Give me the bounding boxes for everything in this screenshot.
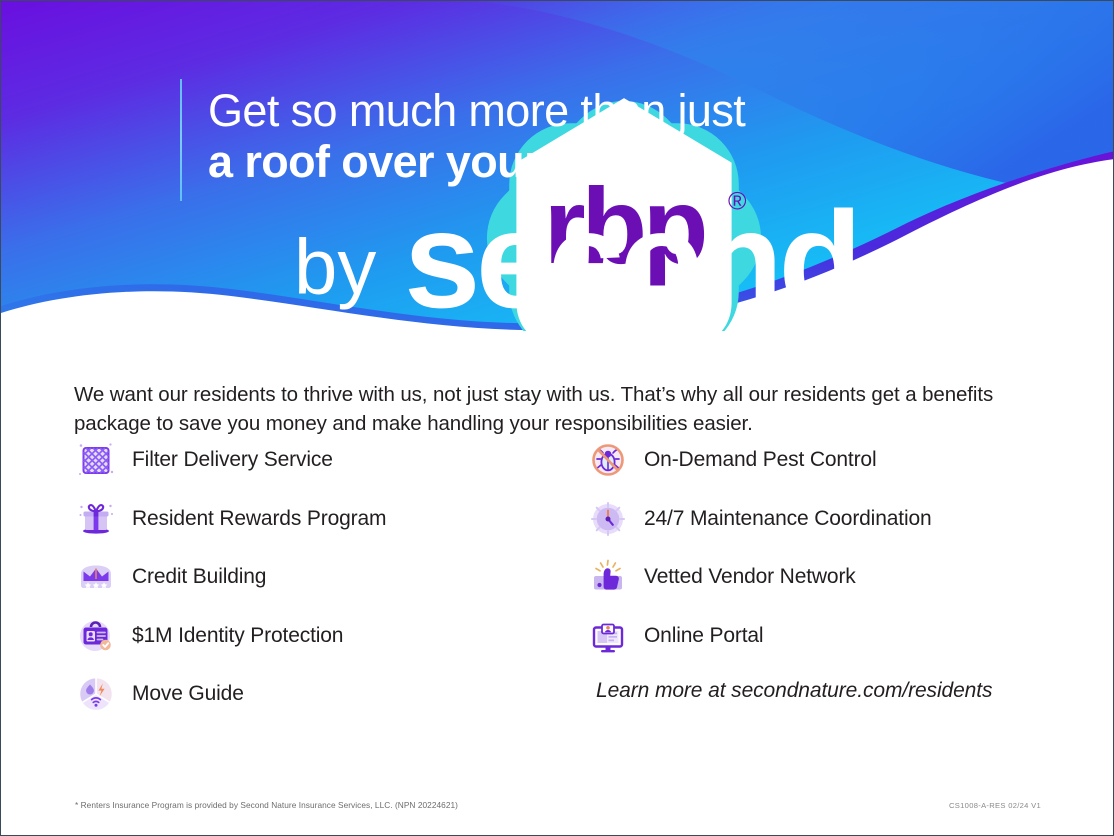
marketing-flyer: rbp ® by second nature ® Get so much mor…: [0, 0, 1114, 836]
benefit-filter-delivery-service[interactable]: Filter Delivery Service: [74, 431, 574, 490]
benefit-resident-rewards-program[interactable]: Resident Rewards Program: [74, 490, 574, 549]
footer-disclaimer: * Renters Insurance Program is provided …: [75, 800, 458, 810]
benefit-label: Move Guide: [132, 682, 244, 706]
benefit-identity-protection[interactable]: $1M Identity Protection: [74, 607, 574, 666]
thumbs-up-icon: [586, 555, 630, 599]
benefits-column-left: Filter Delivery Service: [74, 431, 574, 724]
benefit-credit-building[interactable]: Credit Building: [74, 548, 574, 607]
id-badge-shield-icon: [74, 614, 118, 658]
benefit-on-demand-pest-control[interactable]: On-Demand Pest Control: [586, 431, 1064, 490]
benefit-label: Credit Building: [132, 565, 266, 589]
filter-icon: [74, 438, 118, 482]
monitor-icon: [586, 614, 630, 658]
benefit-move-guide[interactable]: Move Guide: [74, 665, 574, 724]
hero-banner: rbp ® by second nature ® Get so much mor…: [1, 1, 1114, 331]
gift-icon: [74, 497, 118, 541]
benefit-label: 24/7 Maintenance Coordination: [644, 507, 932, 531]
benefit-vetted-vendor-network[interactable]: Vetted Vendor Network: [586, 548, 1064, 607]
benefit-label: Online Portal: [644, 624, 763, 648]
benefit-label: On-Demand Pest Control: [644, 448, 876, 472]
utilities-circle-icon: [74, 672, 118, 716]
benefits-column-right: On-Demand Pest Control: [586, 431, 1064, 665]
benefit-label: $1M Identity Protection: [132, 624, 343, 648]
crown-stars-icon: [74, 555, 118, 599]
benefit-label: Resident Rewards Program: [132, 507, 386, 531]
benefit-label: Vetted Vendor Network: [644, 565, 856, 589]
footer-doc-code: CS1008-A-RES 02/24 V1: [949, 801, 1041, 810]
benefit-maintenance-coordination[interactable]: 24/7 Maintenance Coordination: [586, 490, 1064, 549]
clock-icon: [586, 497, 630, 541]
benefit-online-portal[interactable]: Online Portal: [586, 607, 1064, 666]
benefit-label: Filter Delivery Service: [132, 448, 333, 472]
no-pest-icon: [586, 438, 630, 482]
learn-more-text[interactable]: Learn more at secondnature.com/residents: [596, 679, 992, 703]
intro-paragraph: We want our residents to thrive with us,…: [74, 380, 1024, 438]
